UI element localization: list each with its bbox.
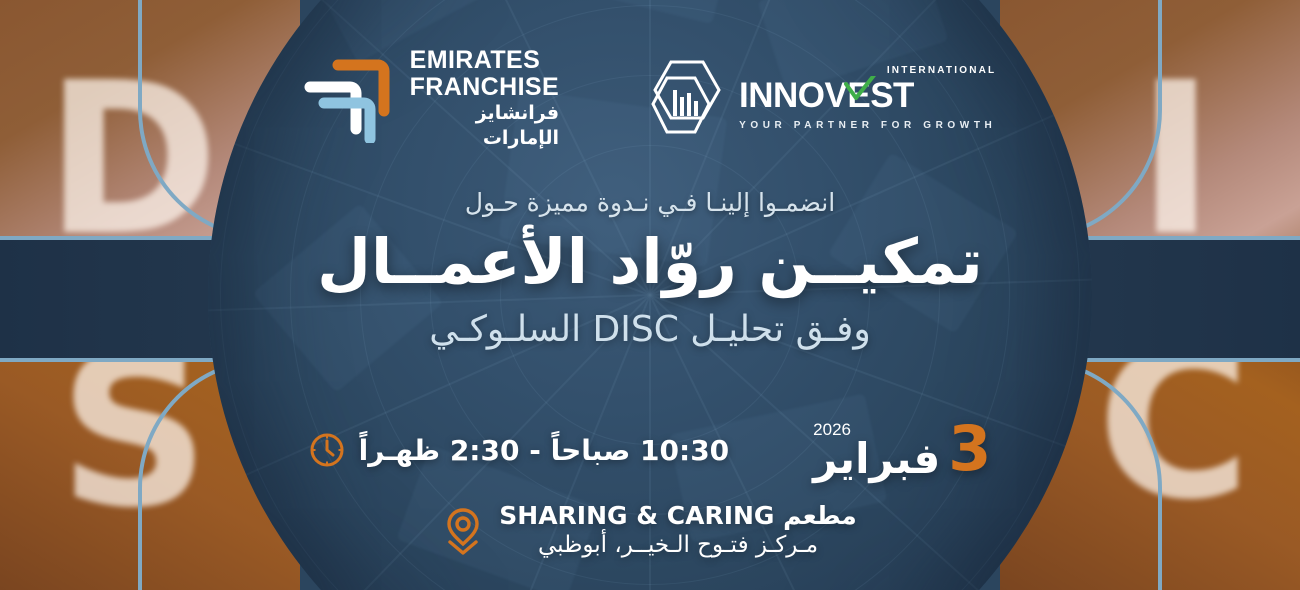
innovest-name-graphic: INNOVEST	[739, 76, 945, 116]
event-meta-row: 3 2026 فبراير 10:30 صباحاً - 2:30 ظهـراً	[0, 420, 1300, 480]
logo-row: EMIRATES FRANCHISE فرانشايز الإمارات INT…	[0, 48, 1300, 150]
event-banner: D I S C	[0, 0, 1300, 590]
headline-kicker: انضمـوا إلينـا فـي نـدوة مميزة حـول	[0, 188, 1300, 217]
emirates-franchise-wordmark: EMIRATES FRANCHISE فرانشايز الإمارات	[410, 48, 559, 150]
innovest-hexagon-mark	[645, 56, 727, 142]
event-date-month-year: 2026 فبراير	[813, 420, 940, 480]
event-time: 10:30 صباحاً - 2:30 ظهـراً	[309, 432, 730, 468]
emirates-franchise-mark	[304, 55, 396, 143]
clock-icon	[309, 432, 345, 468]
event-venue-line1: مطعم SHARING & CARING	[499, 500, 856, 531]
ef-english-line1: EMIRATES	[410, 48, 559, 74]
headline-block: انضمـوا إلينـا فـي نـدوة مميزة حـول تمكي…	[0, 188, 1300, 352]
svg-text:INNOVEST: INNOVEST	[739, 76, 914, 115]
event-venue: مطعم SHARING & CARING مـركـز فتـوح الـخي…	[0, 500, 1300, 561]
headline-subtitle: وفـق تحليـل DISC السلـوكـي	[0, 308, 1300, 351]
ef-arabic-line2: الإمارات	[410, 128, 559, 150]
innovest-wordmark: INTERNATIONAL INNOVEST YOUR PARTNER FOR …	[739, 66, 996, 131]
event-date-day: 3	[948, 420, 991, 477]
event-venue-line2: مـركـز فتـوح الـخيــر، أبوظبي	[499, 531, 856, 561]
location-pin-icon	[443, 506, 483, 556]
innovest-logo: INTERNATIONAL INNOVEST YOUR PARTNER FOR …	[645, 56, 996, 142]
event-venue-text: مطعم SHARING & CARING مـركـز فتـوح الـخي…	[499, 500, 856, 561]
headline-title: تمكيــن روّاد الأعمــال	[0, 227, 1300, 296]
innovest-international-label: INTERNATIONAL	[887, 65, 997, 76]
event-date-month: فبراير	[813, 438, 940, 480]
event-date: 3 2026 فبراير	[813, 420, 991, 480]
emirates-franchise-logo: EMIRATES FRANCHISE فرانشايز الإمارات	[304, 48, 559, 150]
event-time-text: 10:30 صباحاً - 2:30 ظهـراً	[359, 434, 730, 467]
innovest-tagline: YOUR PARTNER FOR GROWTH	[739, 120, 996, 131]
ef-arabic-line1: فرانشايز	[410, 103, 559, 125]
ef-english-line2: FRANCHISE	[410, 75, 559, 101]
banner-content: EMIRATES FRANCHISE فرانشايز الإمارات INT…	[0, 0, 1300, 590]
